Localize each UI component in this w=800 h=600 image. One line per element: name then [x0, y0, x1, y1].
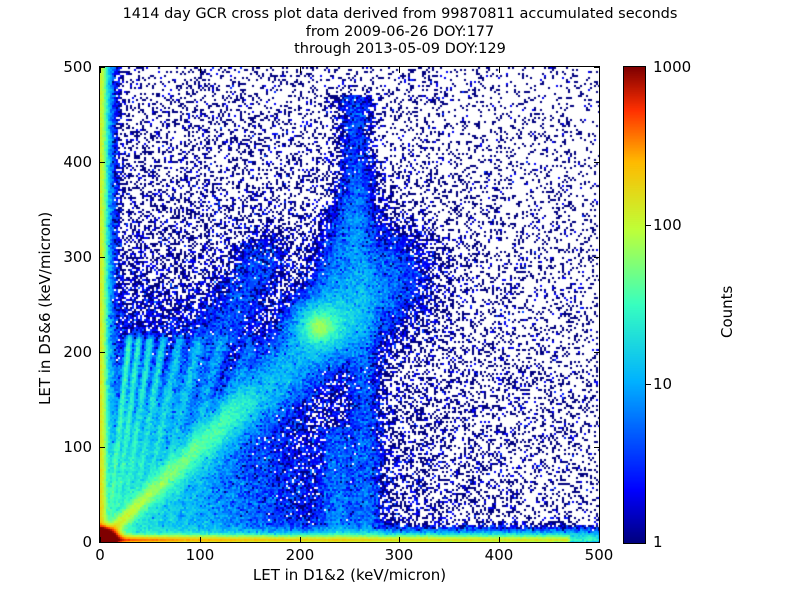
x-tick-mark-top: [300, 67, 301, 73]
colorbar-gradient: [624, 67, 645, 543]
x-tick-mark: [399, 537, 400, 543]
y-tick-mark: [99, 447, 105, 448]
x-tick-mark: [300, 537, 301, 543]
y-tick-mark-right: [594, 352, 600, 353]
y-tick-label: 500: [63, 58, 92, 76]
y-tick-label: 100: [63, 438, 92, 456]
x-tick-mark-top: [200, 67, 201, 73]
x-tick-mark-top: [599, 67, 600, 73]
x-tick-mark-top: [100, 67, 101, 73]
colorbar-tick-label: 10: [653, 375, 672, 393]
y-tick-mark-right: [594, 257, 600, 258]
y-tick-label: 0: [82, 533, 92, 551]
y-tick-label: 300: [63, 248, 92, 266]
y-tick-label: 200: [63, 343, 92, 361]
colorbar-tick-label: 100: [653, 216, 682, 234]
x-tick-label: 300: [385, 546, 414, 564]
y-tick-mark: [99, 257, 105, 258]
x-tick-mark: [200, 537, 201, 543]
colorbar: [623, 66, 646, 544]
y-tick-mark: [99, 352, 105, 353]
colorbar-tick-mark: [646, 384, 651, 385]
figure-root: 1414 day GCR cross plot data derived fro…: [0, 0, 800, 600]
x-tick-mark-top: [499, 67, 500, 73]
x-tick-mark-top: [399, 67, 400, 73]
plot-area: [99, 66, 600, 543]
x-tick-label: 400: [485, 546, 514, 564]
x-tick-label: 500: [585, 546, 614, 564]
x-tick-mark: [100, 537, 101, 543]
y-tick-label: 400: [63, 153, 92, 171]
y-axis-title: LET in D5&6 (keV/micron): [36, 212, 54, 405]
x-axis-title: LET in D1&2 (keV/micron): [99, 566, 600, 584]
colorbar-tick-mark: [646, 225, 651, 226]
x-tick-label: 0: [95, 546, 105, 564]
colorbar-tick-label: 1000: [653, 58, 691, 76]
colorbar-tick-label: 1: [653, 533, 663, 551]
scatter-heatmap-canvas: [100, 67, 599, 542]
title-line-1: 1414 day GCR cross plot data derived fro…: [0, 6, 800, 24]
y-tick-mark: [99, 162, 105, 163]
y-tick-mark-right: [594, 447, 600, 448]
x-tick-label: 200: [286, 546, 315, 564]
x-tick-label: 100: [186, 546, 215, 564]
title-line-2: from 2009-06-26 DOY:177: [0, 24, 800, 42]
colorbar-title: Counts: [718, 286, 736, 338]
figure-title: 1414 day GCR cross plot data derived fro…: [0, 6, 800, 59]
y-tick-mark-right: [594, 162, 600, 163]
title-line-3: through 2013-05-09 DOY:129: [0, 41, 800, 59]
x-tick-mark: [599, 537, 600, 543]
x-tick-mark: [499, 537, 500, 543]
